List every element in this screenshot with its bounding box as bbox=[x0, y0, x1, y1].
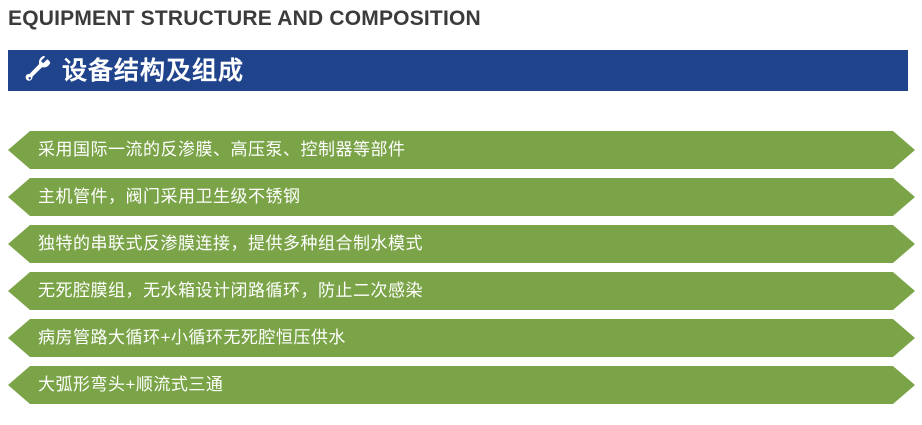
chevron-bar-shape bbox=[8, 225, 915, 263]
list-item[interactable]: 无死腔膜组，无水箱设计闭路循环，防止二次感染 bbox=[0, 272, 922, 310]
chevron-bar-shape bbox=[8, 272, 915, 310]
section-header-bar: 设备结构及组成 bbox=[8, 50, 908, 91]
feature-list: 采用国际一流的反渗膜、高压泵、控制器等部件 主机管件，阀门采用卫生级不锈钢 独特… bbox=[0, 131, 922, 413]
list-item[interactable]: 病房管路大循环+小循环无死腔恒压供水 bbox=[0, 319, 922, 357]
wrench-icon bbox=[24, 56, 52, 84]
chevron-bar-shape bbox=[8, 319, 915, 357]
list-item[interactable]: 大弧形弯头+顺流式三通 bbox=[0, 366, 922, 404]
chevron-bar-shape bbox=[8, 366, 915, 404]
page-title: EQUIPMENT STRUCTURE AND COMPOSITION bbox=[8, 5, 481, 33]
chevron-bar-shape bbox=[8, 131, 915, 169]
section-header-title: 设备结构及组成 bbox=[62, 57, 244, 85]
list-item[interactable]: 采用国际一流的反渗膜、高压泵、控制器等部件 bbox=[0, 131, 922, 169]
list-item[interactable]: 主机管件，阀门采用卫生级不锈钢 bbox=[0, 178, 922, 216]
list-item[interactable]: 独特的串联式反渗膜连接，提供多种组合制水模式 bbox=[0, 225, 922, 263]
chevron-bar-shape bbox=[8, 178, 915, 216]
